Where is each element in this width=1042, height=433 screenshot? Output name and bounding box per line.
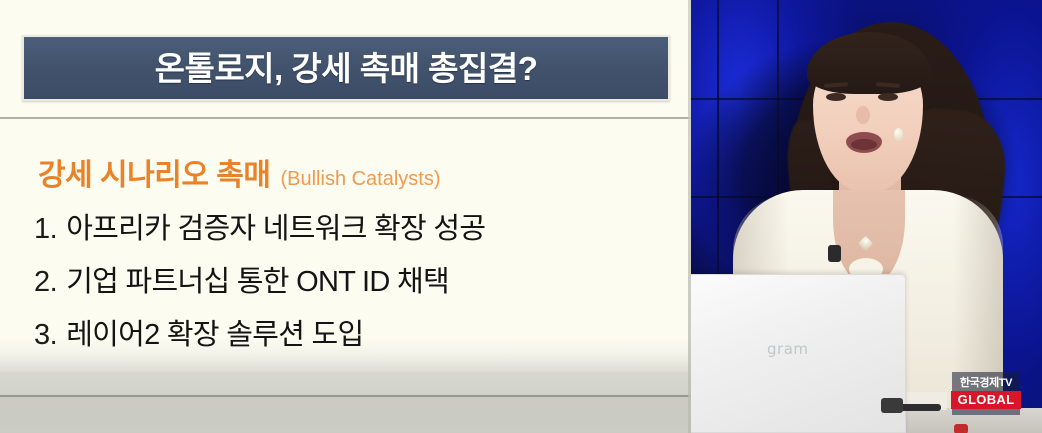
subtitle-english: (Bullish Catalysts) <box>280 168 440 191</box>
panel-lower-divider <box>0 395 691 397</box>
catalyst-list: 1. 아프리카 검증자 네트워크 확장 성공 2. 기업 파트너십 통한 ONT… <box>34 205 664 364</box>
list-item-number: 2. <box>34 266 57 299</box>
anchor-eye-left <box>826 93 846 101</box>
broadcast-screenshot: 온톨로지, 강세 촉매 총집결? 강세 시나리오 촉매 (Bullish Cat… <box>0 0 1042 433</box>
header-divider <box>0 117 691 119</box>
laptop-plug <box>881 398 903 413</box>
anchor-mouth-inner <box>851 139 877 150</box>
graphic-title-bar: 온톨로지, 강세 촉매 총집결? <box>22 35 670 101</box>
anchor-nose <box>856 106 870 124</box>
list-item: 3. 레이어2 확장 솔루션 도입 <box>34 311 664 364</box>
news-graphic-panel: 온톨로지, 강세 촉매 총집결? 강세 시나리오 촉매 (Bullish Cat… <box>0 0 691 433</box>
subtitle-korean: 강세 시나리오 촉매 <box>38 150 270 194</box>
list-item-label: 기업 파트너십 통한 ONT ID 채택 <box>66 258 449 300</box>
laptop-brand-label: gram <box>767 340 809 358</box>
list-item: 2. 기업 파트너십 통한 ONT ID 채택 <box>34 258 664 311</box>
anchor-eye-right <box>878 93 898 101</box>
list-item-number: 1. <box>34 213 57 246</box>
list-item: 1. 아프리카 검증자 네트워크 확장 성공 <box>34 205 664 258</box>
laptop: gram <box>691 274 906 433</box>
anchor-earring <box>894 128 903 141</box>
list-item-number: 3. <box>34 319 57 352</box>
list-item-label: 아프리카 검증자 네트워크 확장 성공 <box>66 205 485 247</box>
desk-red-object <box>954 424 968 433</box>
studio-video-feed: gram 한국경제TV GLOBAL <box>691 0 1042 433</box>
broadcaster-logo: 한국경제TV GLOBAL <box>952 372 1020 415</box>
anchor-lapel-microphone <box>828 245 841 262</box>
panel-lower-band <box>0 372 691 433</box>
broadcaster-logo-badge: GLOBAL <box>951 391 1022 409</box>
page-title: 온톨로지, 강세 촉매 총집결? <box>155 52 538 85</box>
subtitle-row: 강세 시나리오 촉매 (Bullish Catalysts) <box>38 150 441 194</box>
list-item-label: 레이어2 확장 솔루션 도입 <box>66 311 363 353</box>
broadcaster-logo-name: 한국경제TV <box>960 378 1012 389</box>
